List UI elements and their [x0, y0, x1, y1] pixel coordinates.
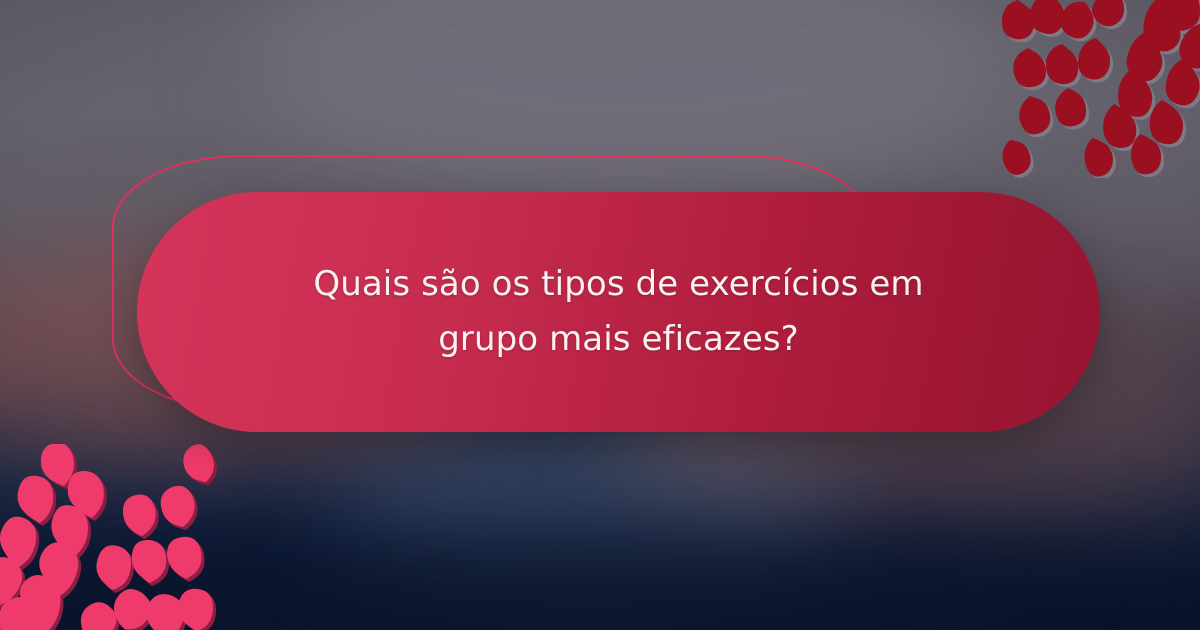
- share-card-canvas: Quais são os tipos de exercícios em grup…: [0, 0, 1200, 630]
- question-title: Quais são os tipos de exercícios em grup…: [259, 257, 979, 367]
- question-card: Quais são os tipos de exercícios em grup…: [137, 192, 1100, 432]
